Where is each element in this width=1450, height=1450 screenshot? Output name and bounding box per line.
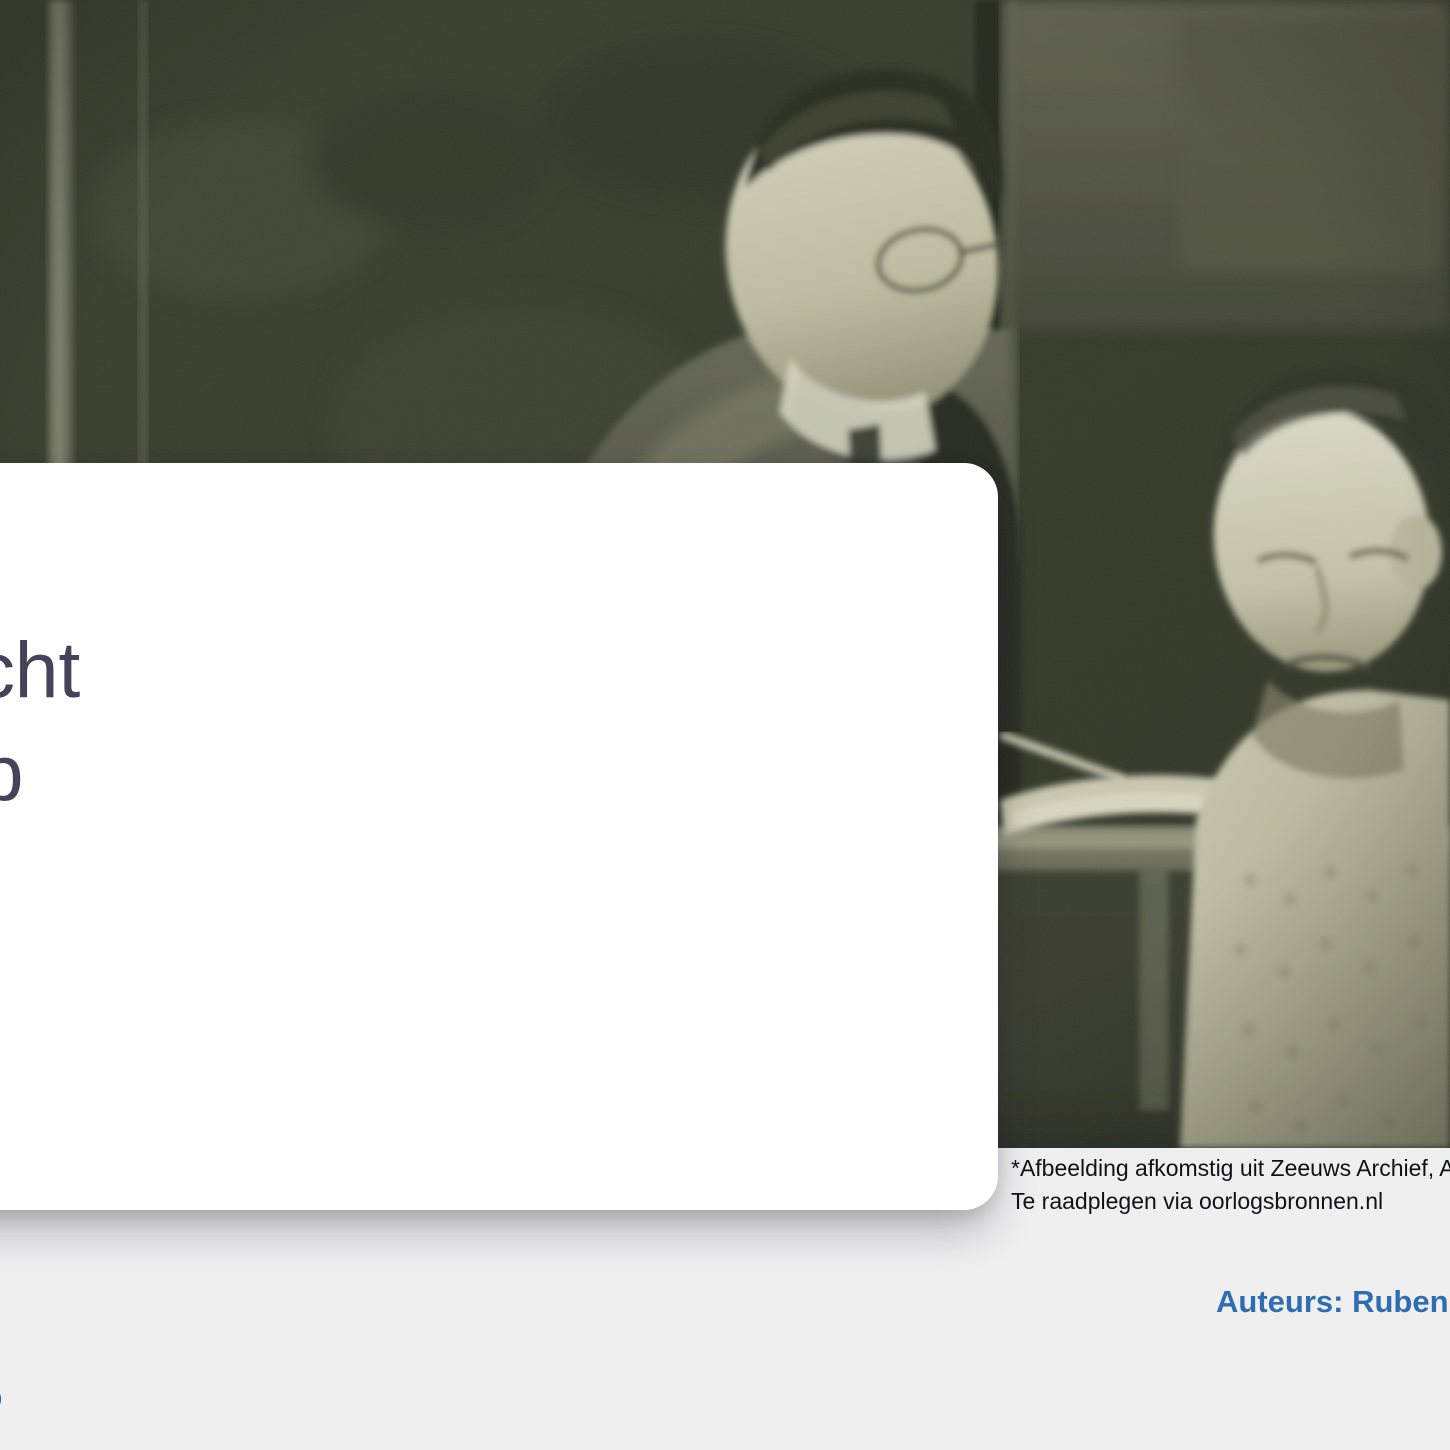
photo-credit: *Afbeelding afkomstig uit Zeeuws Archief… — [1011, 1152, 1450, 1218]
poster-title-line-1: nnisoverdracht — [0, 618, 998, 721]
authors-line: Auteurs: Ruben P — [1216, 1282, 1450, 1322]
poster-canvas: nnisoverdracht reldoorlog op *Afbeelding… — [0, 0, 1450, 1450]
poster-title-line-2: reldoorlog op — [0, 721, 998, 824]
photo-credit-line-2: Te raadplegen via oorlogsbronnen.nl — [1011, 1185, 1450, 1218]
clipped-text-fragment: p — [0, 1381, 2, 1415]
poster-title: nnisoverdracht reldoorlog op — [0, 463, 998, 824]
photo-credit-line-1: *Afbeelding afkomstig uit Zeeuws Archief… — [1011, 1152, 1450, 1185]
title-card: nnisoverdracht reldoorlog op — [0, 463, 998, 1210]
